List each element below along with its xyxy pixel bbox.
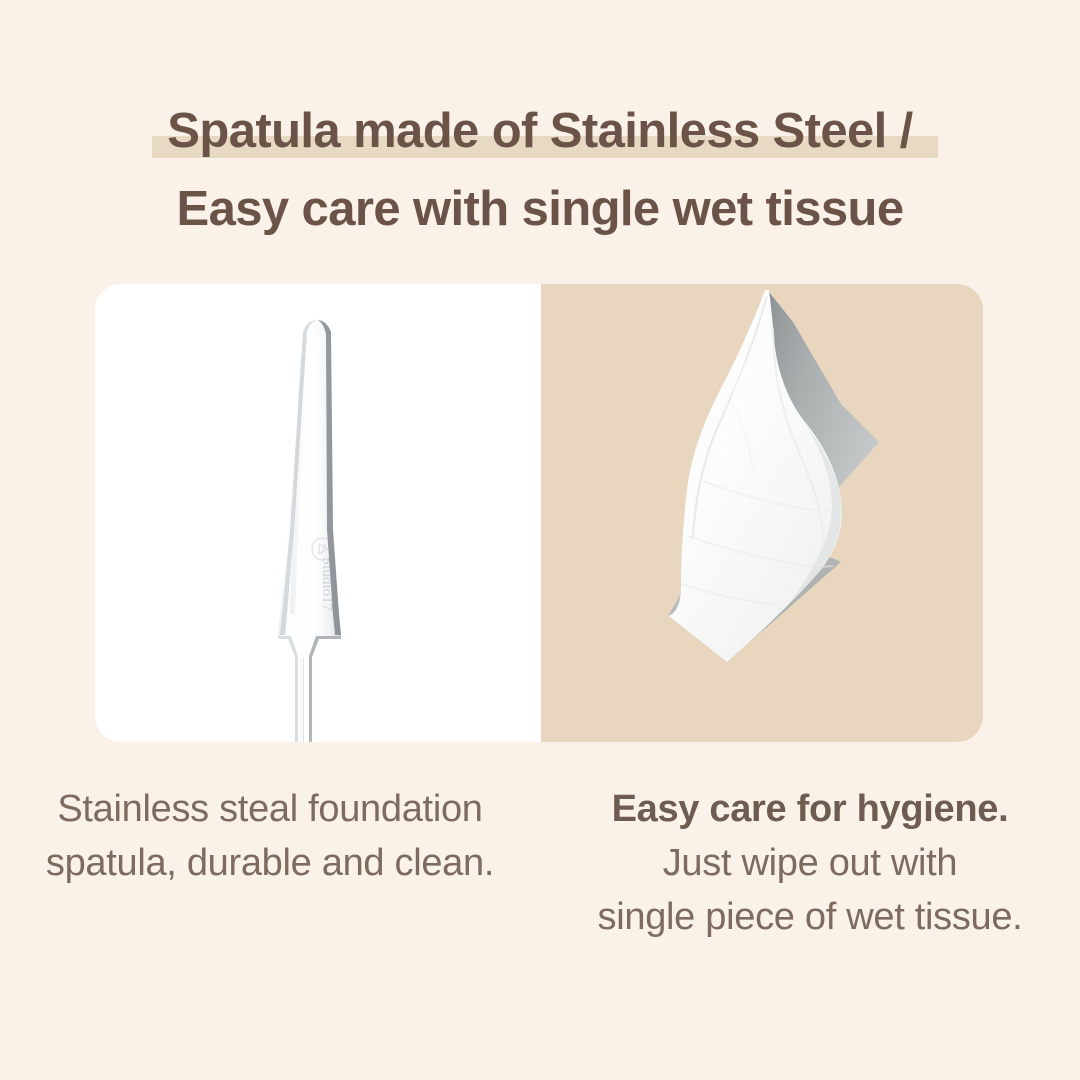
caption-right-line-3: single piece of wet tissue. [540, 890, 1080, 944]
tissue-panel [541, 284, 983, 742]
heading-line-1: Spatula made of Stainless Steel / [0, 92, 1080, 170]
heading-line-2: Easy care with single wet tissue [0, 170, 1080, 248]
caption-left: Stainless steal foundation spatula, dura… [0, 782, 540, 944]
caption-left-line-1: Stainless steal foundation [0, 782, 540, 836]
product-feature-poster: Spatula made of Stainless Steel / Easy c… [0, 0, 1080, 1080]
spatula-handle-sheen [300, 658, 304, 742]
wet-tissue-illustration [541, 284, 983, 742]
spatula-image: Studio17 [95, 284, 541, 742]
spatula-panel: Studio17 [95, 284, 541, 742]
gallery: Studio17 [95, 284, 983, 742]
captions: Stainless steal foundation spatula, dura… [0, 782, 1080, 944]
heading-block: Spatula made of Stainless Steel / Easy c… [0, 92, 1080, 248]
spatula-illustration: Studio17 [95, 284, 541, 742]
heading-line-1-text: Spatula made of Stainless Steel / [167, 92, 912, 170]
spatula-neck-right-edge [309, 636, 341, 742]
caption-right-line-1: Easy care for hygiene. [540, 782, 1080, 836]
caption-right-line-2: Just wipe out with [540, 836, 1080, 890]
spatula-neck-left-edge [278, 636, 298, 742]
spatula-brand-engraving: Studio17 [319, 557, 335, 612]
caption-right: Easy care for hygiene. Just wipe out wit… [540, 782, 1080, 944]
tissue-front-face [669, 290, 842, 662]
caption-left-line-2: spatula, durable and clean. [0, 836, 540, 890]
heading-line-2-text: Easy care with single wet tissue [177, 170, 904, 248]
